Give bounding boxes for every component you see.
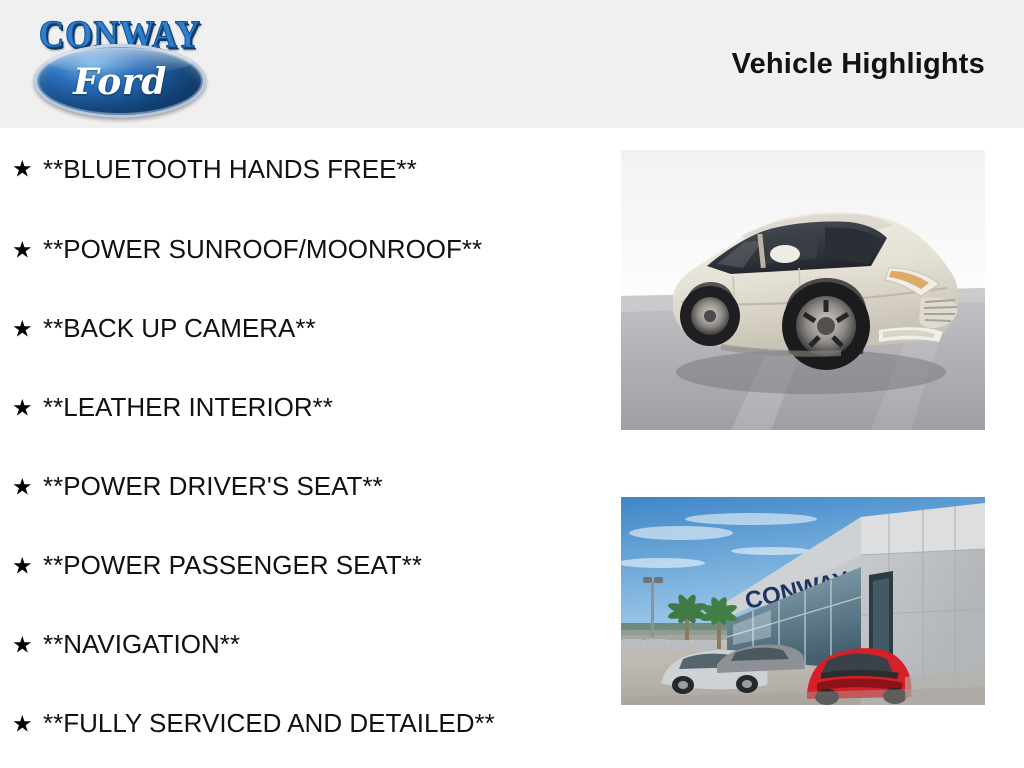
list-item: ★ **POWER PASSENGER SEAT** [0,526,610,605]
list-item: ★ **FULLY SERVICED AND DETAILED** [0,684,610,763]
star-icon: ★ [12,158,33,181]
highlight-label: **NAVIGATION** [43,629,240,660]
star-icon: ★ [12,396,33,419]
list-item: ★ **POWER SUNROOF/MOONROOF** [0,210,610,289]
highlight-label: **FULLY SERVICED AND DETAILED** [43,708,495,739]
page-title: Vehicle Highlights [732,48,985,81]
dealer-logo[interactable]: CONWAY Ford [20,12,220,118]
ford-oval-icon: Ford [34,44,206,118]
star-icon: ★ [12,475,33,498]
star-icon: ★ [12,238,33,261]
star-icon: ★ [12,317,33,340]
vehicle-photo[interactable] [621,150,985,430]
highlight-label: **POWER SUNROOF/MOONROOF** [43,234,482,265]
list-item: ★ **POWER DRIVER'S SEAT** [0,447,610,526]
ford-script-text: Ford [34,44,206,118]
dealership-photo[interactable]: CONWAY [621,497,985,705]
vehicle-photo-graphic [621,150,985,430]
star-icon: ★ [12,712,33,735]
dealership-photo-graphic: CONWAY [621,497,985,705]
list-item: ★ **LEATHER INTERIOR** [0,368,610,447]
list-item: ★ **NAVIGATION** [0,605,610,684]
highlight-label: **LEATHER INTERIOR** [43,392,333,423]
highlight-label: **BACK UP CAMERA** [43,313,316,344]
star-icon: ★ [12,554,33,577]
vehicle-highlights-list: ★ **BLUETOOTH HANDS FREE** ★ **POWER SUN… [0,128,610,763]
star-icon: ★ [12,633,33,656]
list-item: ★ **BACK UP CAMERA** [0,289,610,368]
highlight-label: **POWER PASSENGER SEAT** [43,550,422,581]
list-item: ★ **BLUETOOTH HANDS FREE** [0,128,610,210]
page-header: CONWAY Ford Vehicle Highlights [0,0,1024,128]
highlight-label: **POWER DRIVER'S SEAT** [43,471,383,502]
highlight-label: **BLUETOOTH HANDS FREE** [43,154,417,185]
